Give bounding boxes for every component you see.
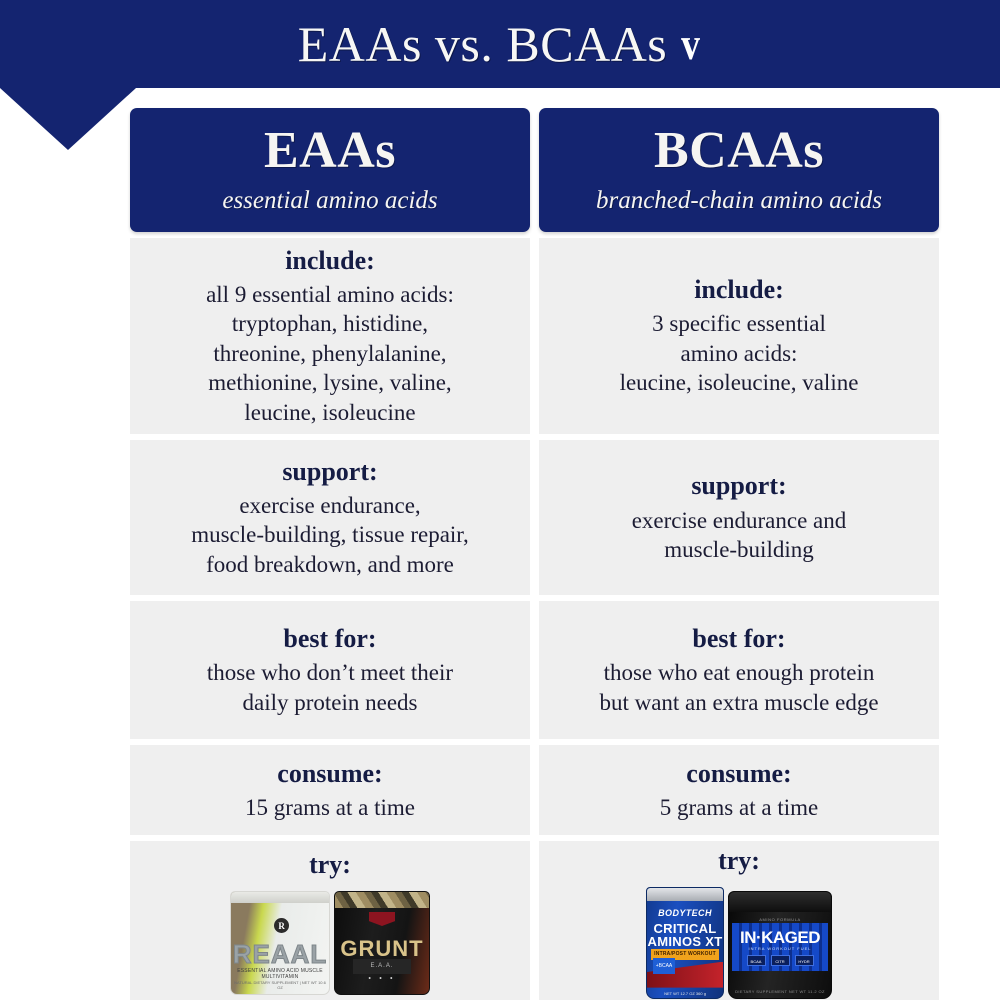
in-kaged-tub: AMINO FORMULA IN·KAGED INTRA WORKOUT FUE… [728,891,832,999]
camo-lid [335,892,429,908]
cell-bcaas-consume: consume: 5 grams at a time [539,745,939,835]
column-bcaas: BCAAs branched-chain amino acids include… [539,108,939,1000]
bodytech-line2: AMINOS XT [647,934,723,949]
column-subtitle-bcaas: branched-chain amino acids [596,187,882,215]
reaal-tub: R REAAL ESSENTIAL AMINO ACID MUSCLE MULT… [230,891,330,995]
cell-bcaas-include: include: 3 specific essentialamino acids… [539,238,939,434]
cell-text: those who don’t meet theirdaily protein … [207,658,453,717]
cell-text: all 9 essential amino acids:tryptophan, … [206,280,454,427]
product-list-eaas: R REAAL ESSENTIAL AMINO ACID MUSCLE MULT… [230,891,430,995]
inkaged-pill-row: BCAA CITR HYDR [729,955,831,966]
cell-eaas-consume: consume: 15 grams at a time [130,745,530,835]
inkaged-pill: BCAA [747,955,766,966]
cell-text: exercise endurance andmuscle-building [632,506,847,565]
reaal-brand-mark: R [274,918,289,933]
column-title-bcaas: BCAAs [654,125,824,177]
reaal-brand-name: REAAL [231,939,329,970]
cell-label: support: [691,470,786,501]
cell-label: best for: [283,623,376,654]
cell-text: 5 grams at a time [660,793,818,822]
column-subtitle-eaas: essential amino acids [222,187,437,215]
product-list-bcaas: BODYTECH CRITICAL AMINOS XT INTRA/POST W… [646,887,832,999]
redcon-shield-icon [369,912,395,926]
comparison-table: EAAs essential amino acids include: all … [130,108,940,1000]
bodytech-badge: +BCAA [653,958,675,974]
inkaged-pill: HYDR [795,955,814,966]
bottle-lid [647,888,723,901]
column-eaas: EAAs essential amino acids include: all … [130,108,530,1000]
column-header-bcaas: BCAAs branched-chain amino acids [539,108,939,232]
cell-bcaas-support: support: exercise endurance andmuscle-bu… [539,440,939,595]
cell-label: try: [309,849,351,880]
v-logo-mark: v [681,21,700,67]
bodytech-footline: NET WT 12.7 OZ 360 g [647,991,723,996]
cell-text: 15 grams at a time [245,793,415,822]
bodytech-critical-aminos-xt-bottle: BODYTECH CRITICAL AMINOS XT INTRA/POST W… [646,887,724,999]
inkaged-subword: INTRA WORKOUT FUEL [729,946,831,951]
infographic-root: EAAs vs. BCAAs v EAAs essential amino ac… [0,0,1000,1000]
cell-text: those who eat enough proteinbut want an … [599,658,878,717]
cell-label: try: [718,845,760,876]
grunt-dots: • • • [368,974,395,983]
column-header-eaas: EAAs essential amino acids [130,108,530,232]
inkaged-footline: DIETARY SUPPLEMENT NET WT 11.2 OZ [729,989,831,994]
cell-eaas-support: support: exercise endurance,muscle-build… [130,440,530,595]
page-title: EAAs vs. BCAAs [298,19,668,69]
reaal-footline: NATURAL DIETARY SUPPLEMENT | NET WT 10.6… [231,980,329,990]
reaal-tagline: ESSENTIAL AMINO ACID MUSCLE MULTIVITAMIN [231,968,329,980]
bodytech-brand-name: BODYTECH [647,908,723,918]
cell-label: support: [282,456,377,487]
tub-lid [231,892,329,903]
column-title-eaas: EAAs [264,125,396,177]
inkaged-topline: AMINO FORMULA [729,917,831,922]
cell-label: include: [694,274,784,305]
cell-label: consume: [277,758,382,789]
grunt-tub: GRUNT E.A.A. • • • [334,891,430,995]
inkaged-brand-name: IN·KAGED [729,928,831,948]
cell-label: best for: [692,623,785,654]
tub-lid [729,892,831,912]
cell-eaas-try: try: R REAAL ESSENTIAL AMINO ACID MUSCLE… [130,841,530,1000]
header-banner: EAAs vs. BCAAs v [0,0,1000,88]
cell-bcaas-best-for: best for: those who eat enough proteinbu… [539,601,939,739]
cell-label: consume: [686,758,791,789]
cell-bcaas-try: try: BODYTECH CRITICAL AMINOS XT INTRA/P… [539,841,939,1000]
cell-text: exercise endurance,muscle-building, tiss… [191,491,469,579]
grunt-subword: E.A.A. [353,959,411,974]
inkaged-pill: CITR [771,955,790,966]
cell-label: include: [285,245,375,276]
cell-eaas-best-for: best for: those who don’t meet theirdail… [130,601,530,739]
cell-text: 3 specific essentialamino acids:leucine,… [620,309,859,397]
banner-pennant-triangle [0,88,136,150]
cell-eaas-include: include: all 9 essential amino acids:try… [130,238,530,434]
